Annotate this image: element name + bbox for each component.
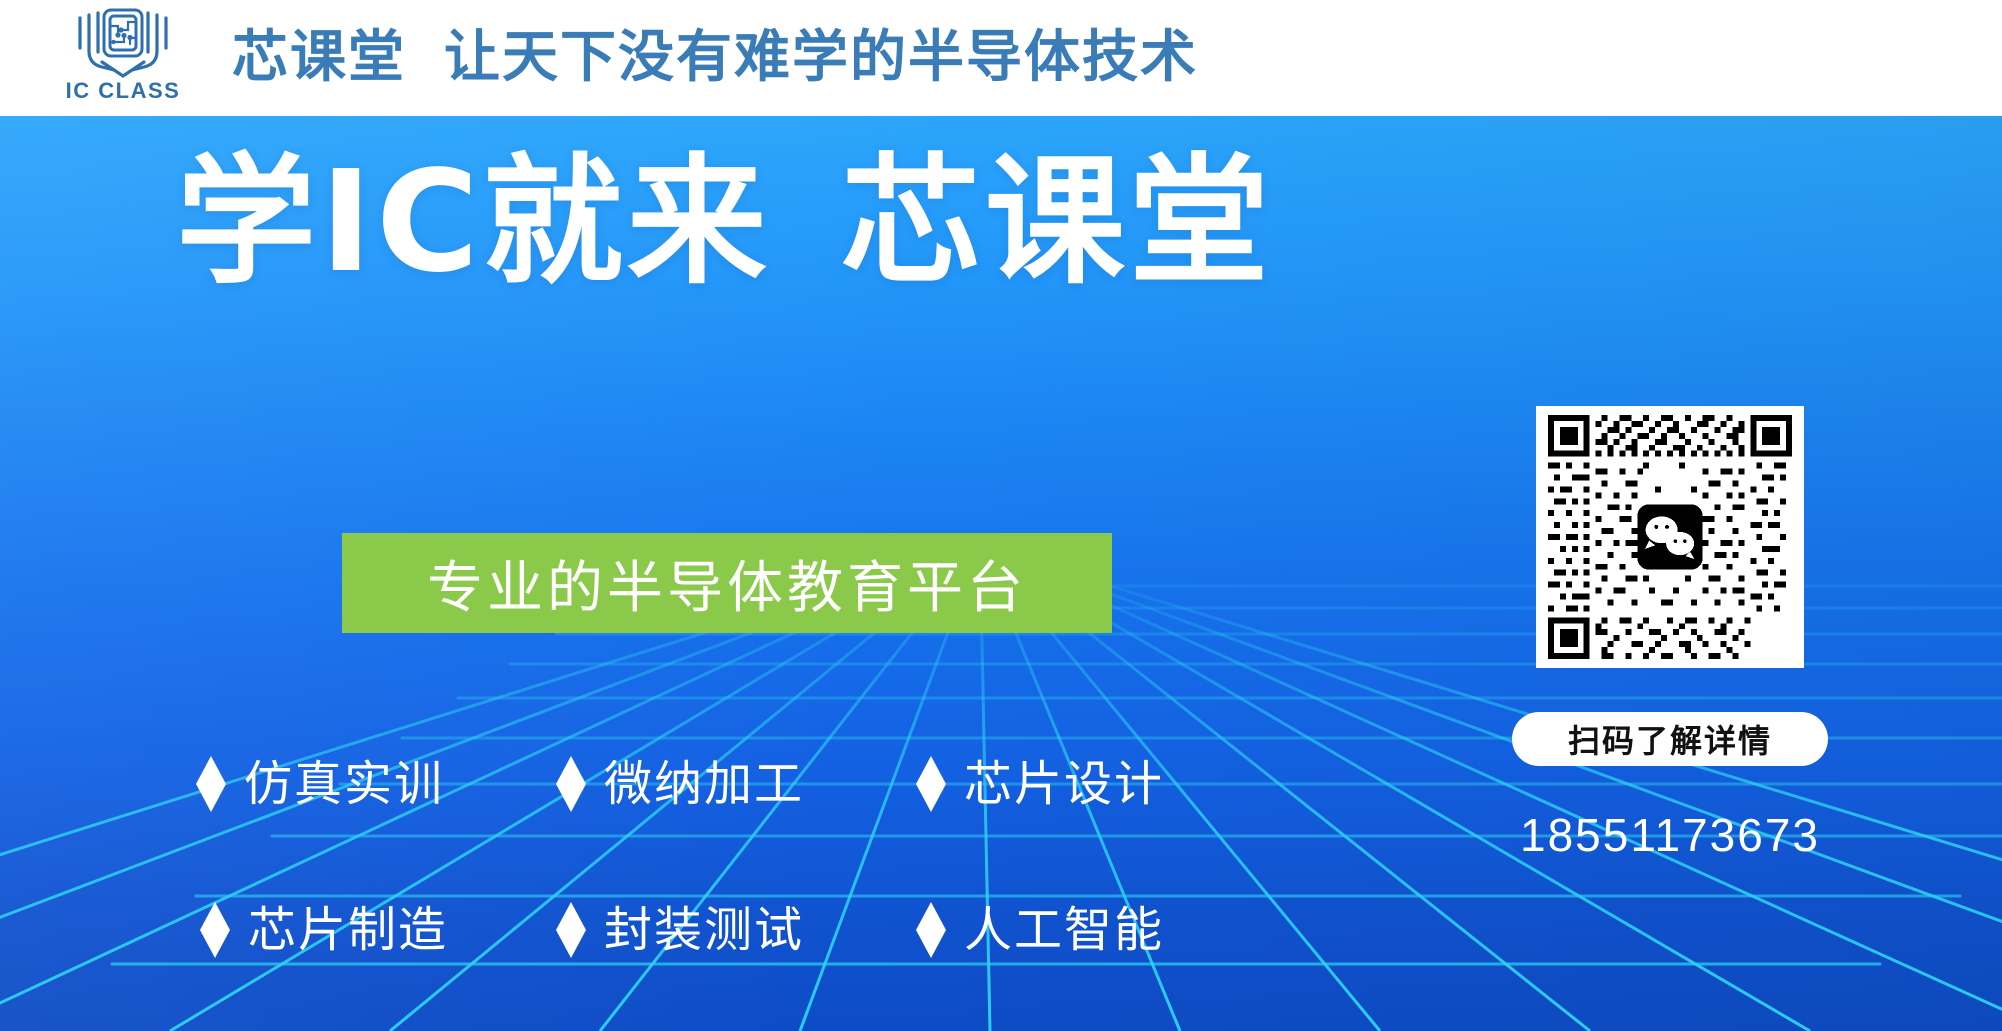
- feature-item-chip-design[interactable]: 芯片设计: [916, 756, 1226, 812]
- feature-label: 仿真实训: [244, 760, 444, 808]
- subtitle-text: 专业的半导体教育平台: [427, 543, 1027, 624]
- diamond-bullet-icon: [200, 902, 230, 958]
- diamond-bullet-icon: [916, 756, 946, 812]
- book-circuit-logo-icon: [58, 4, 188, 82]
- header-slogan: 让天下没有难学的半导体技术: [444, 25, 1198, 90]
- feature-label: 人工智能: [964, 906, 1164, 954]
- diamond-bullet-icon: [556, 902, 586, 958]
- contact-panel: 扫码了解详情 18551173673: [1530, 406, 1810, 862]
- feature-item-artificial-intelligence[interactable]: 人工智能: [916, 902, 1226, 958]
- subtitle-banner: 专业的半导体教育平台: [342, 533, 1112, 633]
- header-title: 芯课堂让天下没有难学的半导体技术: [232, 30, 1198, 86]
- feature-row: 仿真实训 微纳加工 芯片设计: [196, 756, 1226, 812]
- feature-label: 芯片制造: [248, 906, 448, 954]
- brand-logo[interactable]: IC CLASS: [48, 4, 198, 112]
- header-brand-name: 芯课堂: [232, 25, 406, 90]
- qr-code-container[interactable]: [1536, 406, 1804, 668]
- hero-headline: 学IC就来芯课堂: [176, 146, 1273, 300]
- promo-banner: IC CLASS 芯课堂让天下没有难学的半导体技术: [0, 0, 2002, 1031]
- diamond-bullet-icon: [196, 756, 226, 812]
- wechat-logo-icon: [1637, 504, 1702, 569]
- feature-item-micro-nano-fabrication[interactable]: 微纳加工: [556, 756, 916, 812]
- headline-line-a: 学IC就来: [176, 141, 771, 304]
- feature-row: 芯片制造 封装测试 人工智能: [196, 902, 1226, 958]
- feature-item-chip-manufacturing[interactable]: 芯片制造: [196, 902, 556, 958]
- feature-label: 微纳加工: [604, 760, 804, 808]
- diamond-bullet-icon: [556, 756, 586, 812]
- feature-item-packaging-testing[interactable]: 封装测试: [556, 902, 916, 958]
- logo-wordmark: IC CLASS: [66, 78, 181, 104]
- hero-stage: 学IC就来芯课堂 专业的半导体教育平台 仿真实训 微纳加工 芯片设计: [0, 116, 2002, 1031]
- wechat-qr-code-icon: [1545, 415, 1795, 659]
- site-header: IC CLASS 芯课堂让天下没有难学的半导体技术: [0, 0, 2002, 116]
- headline-line-b: 芯课堂: [841, 141, 1273, 304]
- diamond-bullet-icon: [916, 902, 946, 958]
- feature-label: 芯片设计: [964, 760, 1164, 808]
- scan-cta-button[interactable]: 扫码了解详情: [1512, 712, 1828, 766]
- contact-phone-number[interactable]: 18551173673: [1520, 808, 1820, 862]
- feature-list: 仿真实训 微纳加工 芯片设计 芯片制造 封装测试: [196, 756, 1226, 958]
- feature-item-simulation-training[interactable]: 仿真实训: [196, 756, 556, 812]
- scan-cta-label: 扫码了解详情: [1568, 716, 1772, 762]
- feature-label: 封装测试: [604, 906, 804, 954]
